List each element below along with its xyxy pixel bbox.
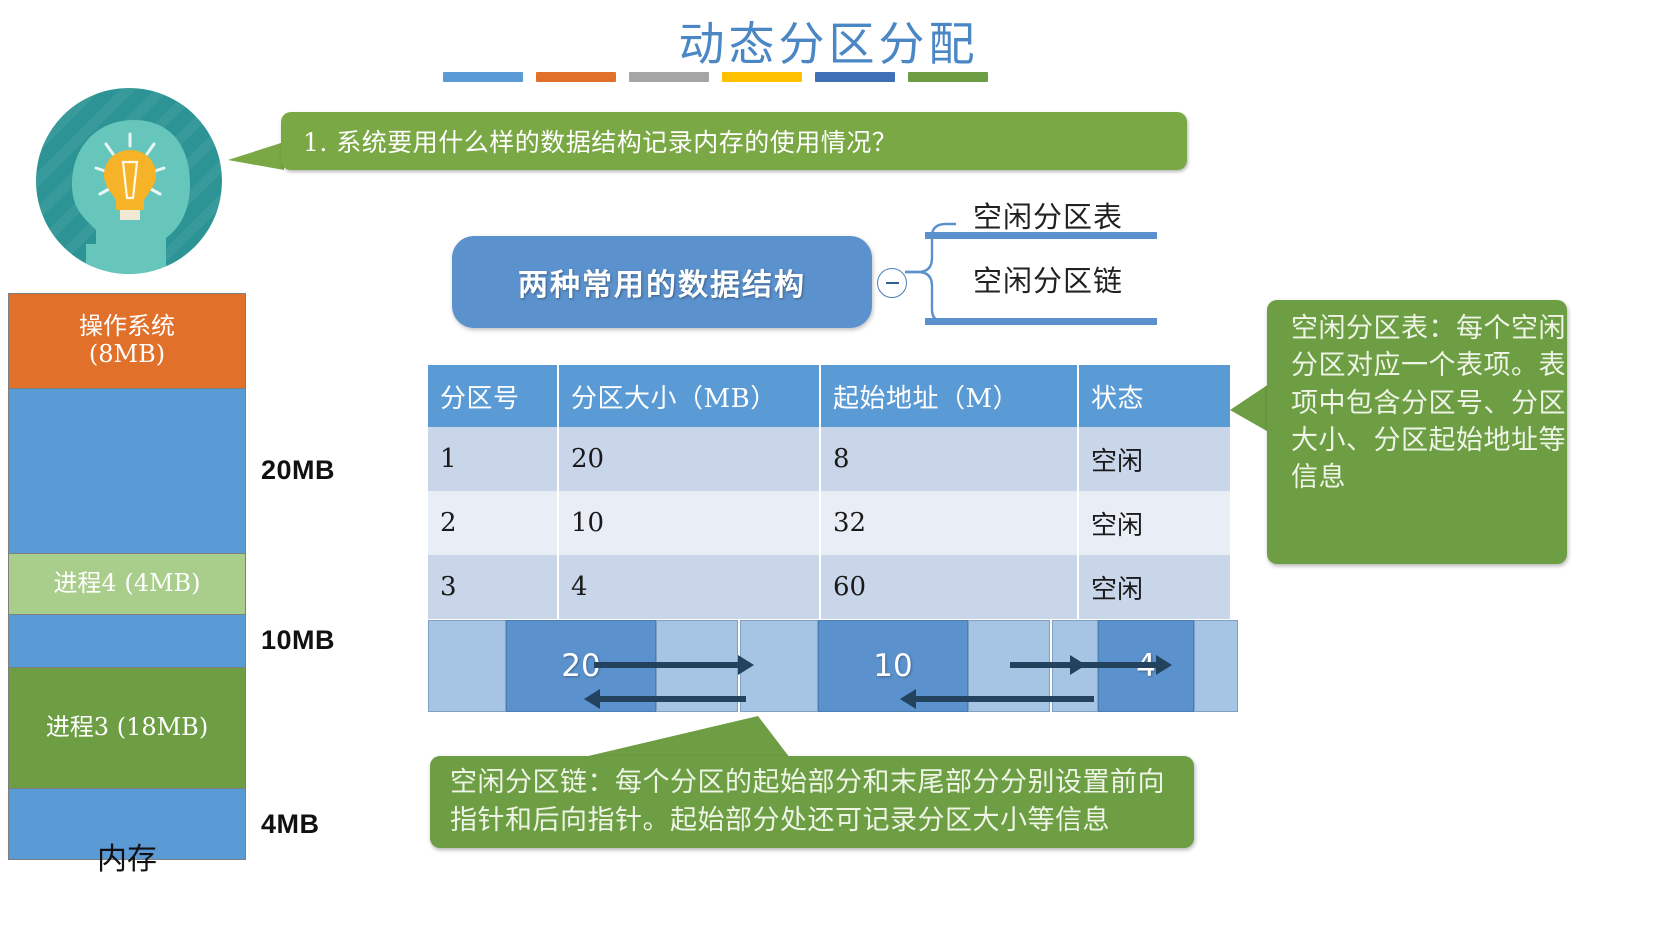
question-callout-text: 1. 系统要用什么样的数据结构记录内存的使用情况？	[303, 112, 1177, 170]
mindmap-branch-underline-1	[925, 232, 1157, 239]
cell-partition-no: 1	[428, 427, 558, 491]
table-header-row: 分区号 分区大小（MB） 起始地址（M） 状态	[428, 365, 1230, 427]
table-header-partition-no: 分区号	[428, 365, 558, 427]
memory-block-process4-label: 进程4 (4MB)	[53, 570, 200, 598]
mindmap-root-node[interactable]: 两种常用的数据结构	[452, 236, 872, 328]
question-callout-tail	[228, 140, 284, 172]
memory-block-os-line1: 操作系统	[79, 313, 175, 341]
free-table-note-callout: 空闲分区表：每个空闲分区对应一个表项。表项中包含分区号、分区大小、分区起始地址等…	[1267, 300, 1567, 564]
brain-icon-head-silhouette	[66, 118, 192, 274]
cell-start-address: 8	[820, 427, 1078, 491]
prev-pointer-arrow-1-head	[584, 689, 600, 709]
table-header-partition-size: 分区大小（MB）	[558, 365, 820, 427]
cell-start-address: 32	[820, 491, 1078, 555]
cell-partition-size: 10	[558, 491, 820, 555]
memory-block-free-20mb: 20MB	[8, 388, 246, 554]
rule-segment-6	[908, 72, 988, 82]
table-header-status: 状态	[1078, 365, 1230, 427]
free-list-note-text: 空闲分区链：每个分区的起始部分和末尾部分分别设置前向指针和后向指针。起始部分处还…	[450, 764, 1190, 841]
cell-start-address: 60	[820, 555, 1078, 619]
question-callout: 1. 系统要用什么样的数据结构记录内存的使用情况？	[281, 112, 1187, 170]
node-prev-pointer-cell	[428, 620, 506, 712]
node-next-pointer-cell	[1194, 620, 1238, 712]
table-row: 2 10 32 空闲	[428, 491, 1230, 555]
brain-icon-circle	[36, 88, 222, 274]
title-rule-decoration	[443, 72, 988, 82]
table-row: 3 4 60 空闲	[428, 555, 1230, 619]
free-table-note-text: 空闲分区表：每个空闲分区对应一个表项。表项中包含分区号、分区大小、分区起始地址等…	[1291, 310, 1577, 496]
rule-segment-3	[629, 72, 709, 82]
table-row: 1 20 8 空闲	[428, 427, 1230, 491]
memory-size-label-10mb: 10MB	[261, 625, 335, 656]
page-title: 动态分区分配	[0, 8, 1657, 74]
rule-segment-5	[815, 72, 895, 82]
memory-block-free-10mb: 10MB	[8, 614, 246, 668]
cell-status: 空闲	[1078, 555, 1230, 619]
rule-segment-2	[536, 72, 616, 82]
memory-layout-diagram: 操作系统 (8MB) 20MB 进程4 (4MB) 10MB 进程3 (18MB…	[8, 294, 246, 822]
rule-segment-4	[722, 72, 802, 82]
mindmap-branch-underline-2	[925, 318, 1157, 325]
cell-status: 空闲	[1078, 427, 1230, 491]
memory-size-label-20mb: 20MB	[261, 455, 335, 486]
memory-block-os-line2: (8MB)	[79, 341, 175, 369]
memory-diagram-caption: 内存	[8, 834, 246, 878]
rule-segment-1	[443, 72, 523, 82]
list-note-callout-tail	[580, 716, 790, 760]
cell-status: 空闲	[1078, 491, 1230, 555]
memory-block-os: 操作系统 (8MB)	[8, 293, 246, 389]
table-note-callout-tail	[1230, 380, 1272, 436]
next-pointer-arrow-1-head	[738, 655, 754, 675]
next-pointer-arrow-3-head	[1156, 655, 1172, 675]
free-list-note-callout: 空闲分区链：每个分区的起始部分和末尾部分分别设置前向指针和后向指针。起始部分处还…	[430, 756, 1194, 848]
mindmap-root-label: 两种常用的数据结构	[518, 260, 806, 304]
table-header-start-address: 起始地址（M）	[820, 365, 1078, 427]
prev-pointer-arrow-2-line	[914, 696, 1094, 702]
prev-pointer-arrow-2-head	[900, 689, 916, 709]
cell-partition-size: 20	[558, 427, 820, 491]
memory-size-label-4mb: 4MB	[261, 809, 320, 840]
brain-lightbulb-icon	[36, 88, 222, 274]
cell-partition-no: 2	[428, 491, 558, 555]
mindmap-branch-label-free-list[interactable]: 空闲分区链	[973, 258, 1123, 300]
cell-partition-no: 3	[428, 555, 558, 619]
memory-block-process4: 进程4 (4MB)	[8, 553, 246, 615]
memory-block-process3: 进程3 (18MB)	[8, 667, 246, 789]
next-pointer-arrow-1-line	[594, 662, 742, 668]
prev-pointer-arrow-1-line	[598, 696, 746, 702]
mindmap-branch-label-free-table[interactable]: 空闲分区表	[973, 194, 1123, 236]
cell-partition-size: 4	[558, 555, 820, 619]
memory-block-process3-label: 进程3 (18MB)	[46, 714, 208, 742]
next-pointer-arrow-3-line	[1010, 662, 1160, 668]
free-partition-table: 分区号 分区大小（MB） 起始地址（M） 状态 1 20 8 空闲 2 10 3…	[428, 365, 1230, 619]
